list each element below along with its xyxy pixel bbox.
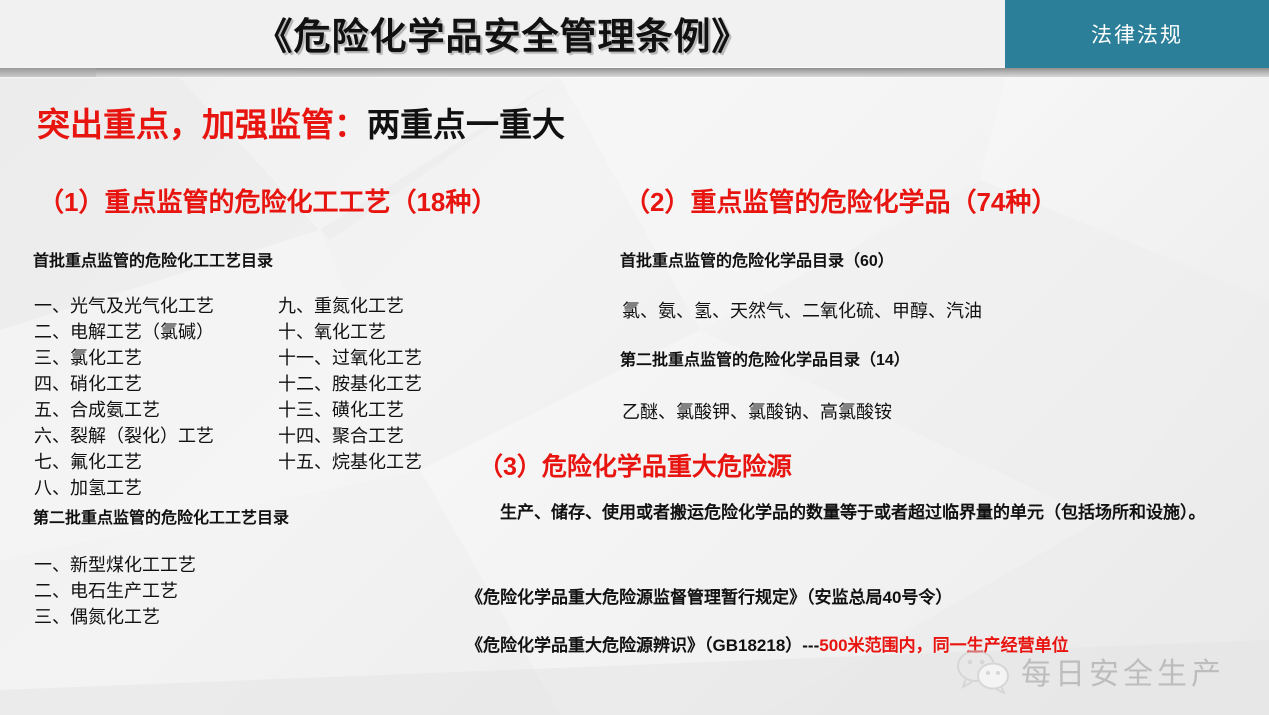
list-item: 五、合成氨工艺: [34, 397, 214, 423]
list-item: 七、氟化工艺: [34, 449, 214, 475]
chemical-list-second-batch: 乙醚、氯酸钾、氯酸钠、高氯酸铵: [622, 398, 892, 424]
regulation-line-2-black: 《危险化学品重大危险源辨识》（GB18218）---: [466, 636, 819, 655]
process-list-first-batch-b: 九、重氮化工艺 十、氧化工艺 十一、过氧化工艺 十二、胺基化工艺 十三、磺化工艺…: [278, 293, 422, 475]
list-item: 八、加氢工艺: [34, 475, 214, 501]
process-list-first-batch-a: 一、光气及光气化工艺 二、电解工艺（氯碱） 三、氯化工艺 四、硝化工艺 五、合成…: [34, 293, 214, 501]
list-item: 一、新型煤化工工艺: [34, 552, 196, 578]
page-title: 《危险化学品安全管理条例》: [0, 4, 1005, 62]
list-item: 十五、烷基化工艺: [278, 449, 422, 475]
list-item: 二、电石生产工艺: [34, 578, 196, 604]
list-item: 三、偶氮化工艺: [34, 604, 196, 630]
list-item: 十、氧化工艺: [278, 319, 422, 345]
main-heading: 突出重点，加强监管：两重点一重大: [37, 98, 565, 146]
section-title-2: （2）重点监管的危险化学品（74种）: [624, 182, 1057, 219]
list-item: 十四、聚合工艺: [278, 423, 422, 449]
list-item: 二、电解工艺（氯碱）: [34, 319, 214, 345]
list-item: 十一、过氧化工艺: [278, 345, 422, 371]
list-item: 四、硝化工艺: [34, 371, 214, 397]
regulation-line-2-red: 500米范围内，同一生产经营单位: [819, 636, 1068, 655]
process-list-second-batch: 一、新型煤化工工艺 二、电石生产工艺 三、偶氮化工艺: [34, 552, 196, 630]
left-subheading-2: 第二批重点监管的危险化工工艺目录: [33, 504, 289, 528]
right-subheading-1: 首批重点监管的危险化学品目录（60）: [620, 247, 894, 271]
list-item: 十二、胺基化工艺: [278, 371, 422, 397]
section-title-1: （1）重点监管的危险化工工艺（18种）: [38, 182, 497, 219]
list-item: 九、重氮化工艺: [278, 293, 422, 319]
header-divider: [0, 68, 1269, 77]
list-item: 三、氯化工艺: [34, 345, 214, 371]
header-category-tab[interactable]: 法律法规: [1005, 0, 1269, 68]
list-item: 六、裂解（裂化）工艺: [34, 423, 214, 449]
slide-canvas: 《危险化学品安全管理条例》 法律法规 突出重点，加强监管：两重点一重大 （1）重…: [0, 0, 1269, 715]
chemical-list-first-batch: 氯、氨、氢、天然气、二氧化硫、甲醇、汽油: [622, 297, 982, 323]
regulation-line-2: 《危险化学品重大危险源辨识》（GB18218）---500米范围内，同一生产经营…: [466, 631, 1069, 656]
list-item: 一、光气及光气化工艺: [34, 293, 214, 319]
regulation-line-1: 《危险化学品重大危险源监督管理暂行规定》（安监总局40号令）: [466, 583, 952, 608]
slide-header: 《危险化学品安全管理条例》 法律法规: [0, 0, 1269, 67]
section-title-3: （3）危险化学品重大危险源: [478, 447, 792, 483]
main-heading-red: 突出重点，加强监管：: [37, 106, 367, 143]
right-subheading-2: 第二批重点监管的危险化学品目录（14）: [620, 346, 910, 370]
major-hazard-definition: 生产、储存、使用或者搬运危险化学品的数量等于或者超过临界量的单元（包括场所和设施…: [466, 500, 1266, 526]
left-subheading-1: 首批重点监管的危险化工工艺目录: [33, 247, 273, 271]
main-heading-black: 两重点一重大: [367, 106, 565, 143]
list-item: 十三、磺化工艺: [278, 397, 422, 423]
